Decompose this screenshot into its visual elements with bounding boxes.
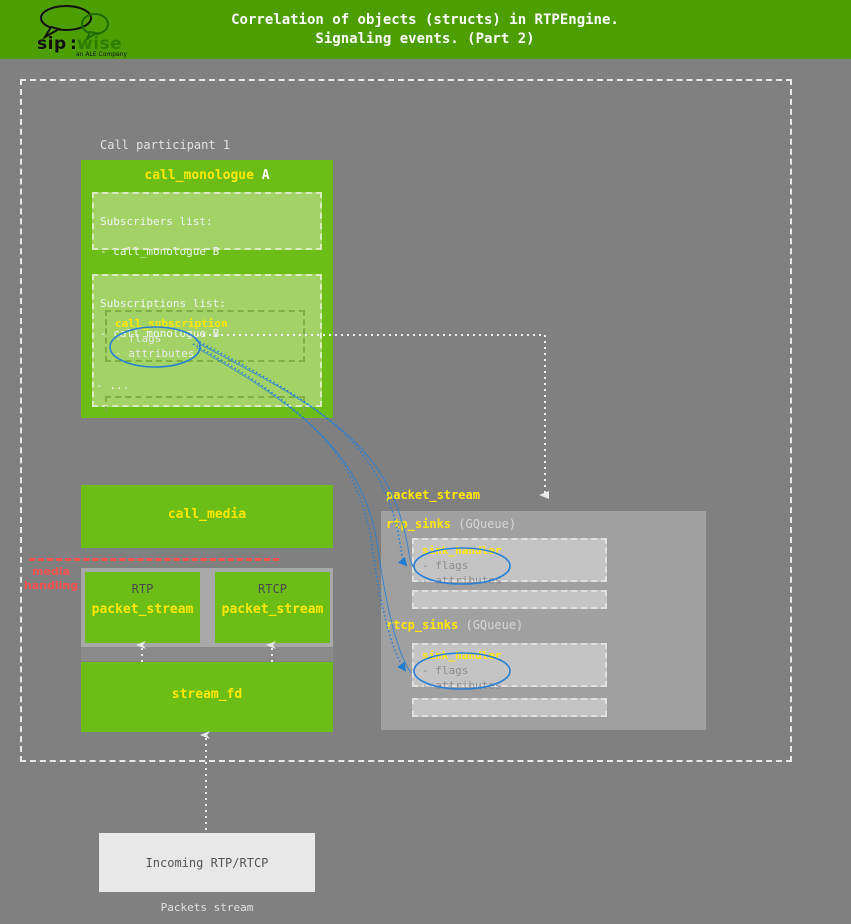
- packet-stream-panel-label: packet_stream: [386, 488, 480, 502]
- subscribers-heading: Subscribers list:: [100, 214, 314, 229]
- call-monologue-title: call_monologue A: [81, 160, 333, 183]
- rtcp-sinks-type: (GQueue): [465, 618, 523, 632]
- call-participant-label: Call participant 1: [100, 138, 230, 152]
- rtcp-sink-placeholder-box: [412, 698, 607, 717]
- rtp-sinks-label: rtp_sinks (GQueue): [386, 517, 516, 531]
- svg-text:sip: sip: [37, 34, 67, 54]
- rtcp-sinks-label: rtcp_sinks (GQueue): [386, 618, 523, 632]
- rtp-sink-handler-field-1: - attributes: [422, 573, 597, 588]
- page-header: sip : wise an ALE Company Correlation of…: [0, 0, 851, 61]
- svg-text:an ALE Company: an ALE Company: [76, 51, 128, 58]
- media-handling-divider: [29, 558, 279, 561]
- rtp-sink-handler-field-0: - flags: [422, 558, 597, 573]
- rtcp-sink-handler-field-0: - flags: [422, 663, 597, 678]
- rtp-packet-stream-box: RTP packet_stream: [85, 572, 200, 643]
- page-title: Correlation of objects (structs) in RTPE…: [150, 11, 700, 49]
- call-subscription-placeholder-box: [105, 396, 305, 412]
- subscribers-list-box: Subscribers list: - call_monologue B - .…: [92, 192, 322, 250]
- rtp-struct-name: packet_stream: [85, 596, 200, 617]
- rtp-sinks-type: (GQueue): [458, 517, 516, 531]
- stream-fd-title: stream_fd: [81, 662, 333, 702]
- subscribers-item-0: - call_monologue B: [100, 244, 314, 259]
- call-media-title: call_media: [81, 485, 333, 522]
- rtcp-sinks-name: rtcp_sinks: [386, 618, 458, 632]
- stream-fd-box: stream_fd: [81, 662, 333, 732]
- rtcp-kind-label: RTCP: [215, 572, 330, 596]
- media-handling-label: media handling: [20, 565, 82, 593]
- rtcp-sink-handler-field-1: - attributes: [422, 678, 597, 693]
- rtp-sink-handler-title: sink_handler: [422, 543, 597, 558]
- diagram-canvas: sip : wise an ALE Company Correlation of…: [0, 0, 851, 924]
- call-subscription-field-0: - flags: [115, 331, 295, 346]
- rtcp-sink-handler-title: sink_handler: [422, 648, 597, 663]
- rtcp-sink-handler-box: sink_handler - flags - attributes: [412, 643, 607, 687]
- rtp-sinks-name: rtp_sinks: [386, 517, 451, 531]
- subscriptions-heading: Subscriptions list:: [100, 296, 314, 311]
- incoming-packets-box: Incoming RTP/RTCP: [99, 833, 315, 892]
- call-monologue-suffix: A: [262, 168, 270, 183]
- incoming-packets-title: Incoming RTP/RTCP: [146, 856, 269, 870]
- call-subscription-box: call_subscription - flags - attributes: [105, 310, 305, 362]
- sipwise-logo: sip : wise an ALE Company: [33, 4, 128, 58]
- rtcp-packet-stream-box: RTCP packet_stream: [215, 572, 330, 643]
- rtp-sink-handler-box: sink_handler - flags - attributes: [412, 538, 607, 582]
- rtcp-struct-name: packet_stream: [215, 596, 330, 617]
- call-subscription-title: call_subscription: [115, 316, 295, 331]
- subscriptions-more-item: - ...: [96, 379, 129, 392]
- rtp-sink-placeholder-box: [412, 590, 607, 609]
- call-media-box: call_media: [81, 485, 333, 548]
- call-monologue-name: call_monologue: [144, 168, 254, 183]
- rtp-kind-label: RTP: [85, 572, 200, 596]
- call-subscription-field-1: - attributes: [115, 346, 295, 361]
- stream-fd-band: [81, 647, 333, 661]
- packets-stream-caption: Packets stream: [99, 901, 315, 914]
